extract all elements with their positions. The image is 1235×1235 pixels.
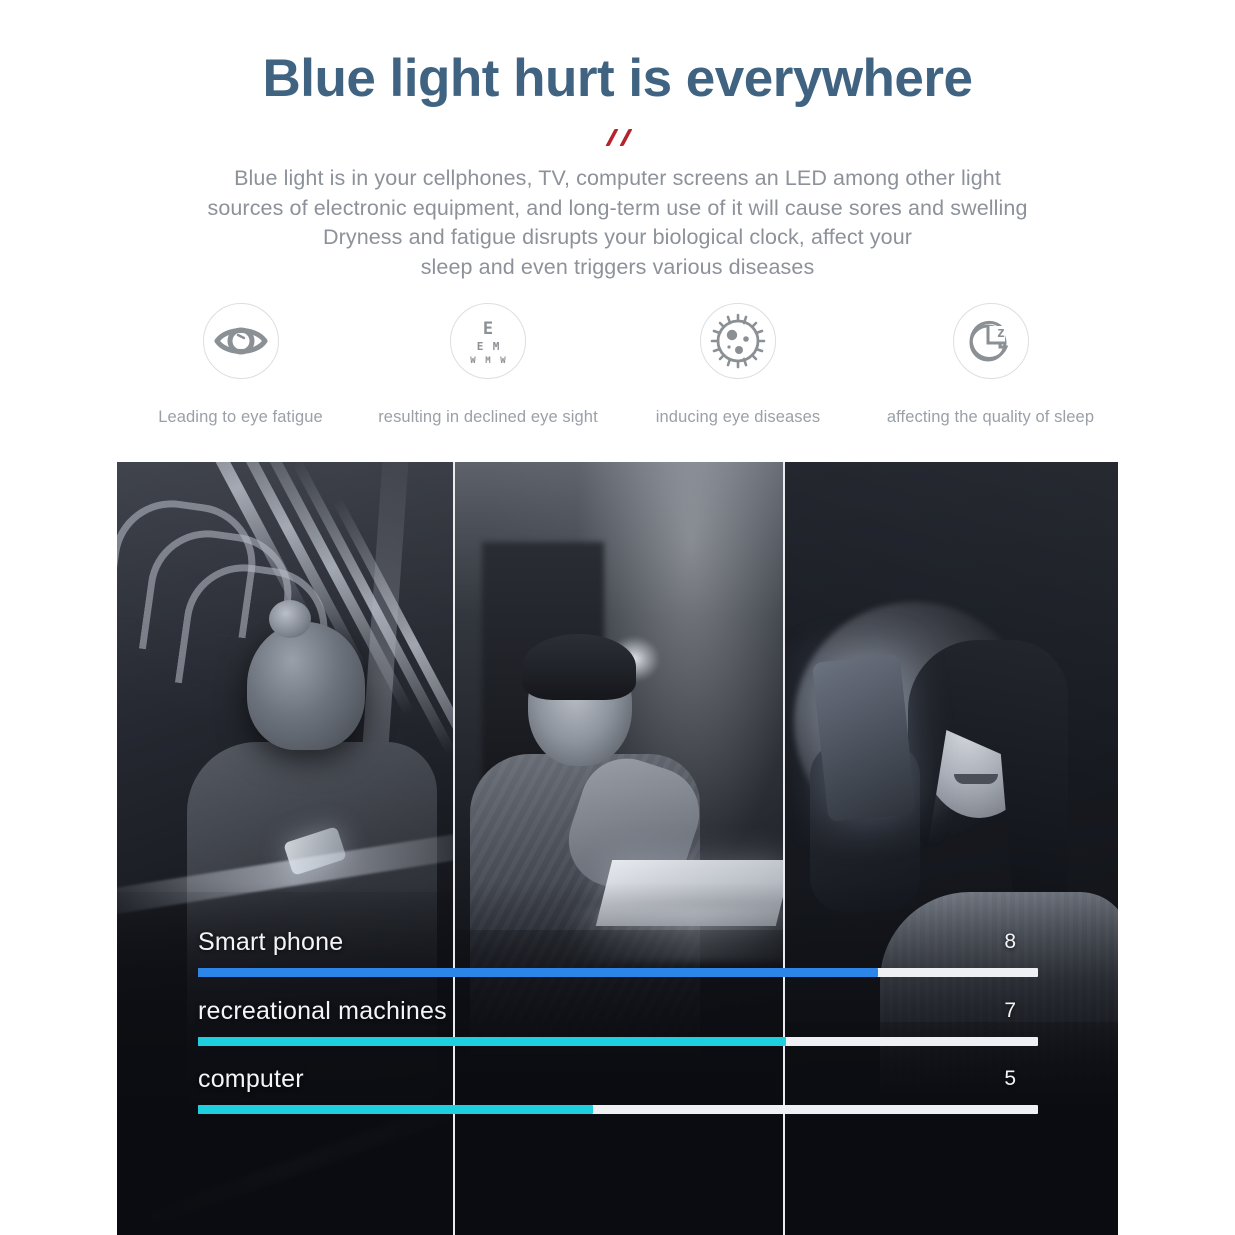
effect-caption: Leading to eye fatigue bbox=[118, 408, 363, 427]
effect-item-sleep-quality: z affecting the quality of sleep bbox=[863, 303, 1118, 379]
effect-item-declined-eyesight: E E M W M W resulting in declined eye si… bbox=[363, 303, 613, 379]
effect-caption: inducing eye diseases bbox=[613, 408, 863, 427]
bar-track bbox=[198, 1037, 1038, 1046]
virus-icon bbox=[700, 303, 776, 379]
svg-text:W: W bbox=[500, 356, 506, 366]
svg-text:W: W bbox=[470, 356, 476, 366]
svg-text:M: M bbox=[493, 340, 500, 353]
eye-chart-icon: E E M W M W bbox=[450, 303, 526, 379]
effects-icon-row: Leading to eye fatigue E E M W M W resul… bbox=[118, 303, 1118, 438]
effect-item-eye-fatigue: Leading to eye fatigue bbox=[118, 303, 363, 379]
red-quote-mark-icon bbox=[604, 129, 648, 149]
intro-line-1: Blue light is in your cellphones, TV, co… bbox=[0, 164, 1235, 194]
bar-label: recreational machines bbox=[198, 997, 447, 1026]
bar-value: 5 bbox=[1004, 1067, 1016, 1091]
bar-track bbox=[198, 968, 1038, 977]
svg-text:E: E bbox=[477, 340, 484, 353]
blue-light-infographic: Blue light hurt is everywhere Blue light… bbox=[0, 0, 1235, 1235]
effect-caption: affecting the quality of sleep bbox=[863, 408, 1118, 427]
bar-value: 7 bbox=[1004, 999, 1016, 1023]
effect-caption: resulting in declined eye sight bbox=[363, 408, 613, 427]
intro-paragraph: Blue light is in your cellphones, TV, co… bbox=[0, 164, 1235, 282]
page-title: Blue light hurt is everywhere bbox=[0, 52, 1235, 105]
blue-light-exposure-bar-chart: Smart phone 8 recreational machines 7 co… bbox=[117, 462, 1118, 1235]
intro-line-2: sources of electronic equipment, and lon… bbox=[0, 194, 1235, 224]
bar-track bbox=[198, 1105, 1038, 1114]
intro-line-4: sleep and even triggers various diseases bbox=[0, 253, 1235, 283]
moon-sleep-icon: z bbox=[953, 303, 1029, 379]
effect-item-eye-diseases: inducing eye diseases bbox=[613, 303, 863, 379]
bar-fill bbox=[198, 1037, 786, 1046]
bar-value: 8 bbox=[1004, 930, 1016, 954]
bar-label: Smart phone bbox=[198, 928, 343, 957]
svg-text:z: z bbox=[997, 324, 1005, 341]
bar-fill bbox=[198, 1105, 593, 1114]
photo-strip: Smart phone 8 recreational machines 7 co… bbox=[117, 462, 1118, 1235]
intro-line-3: Dryness and fatigue disrupts your biolog… bbox=[0, 223, 1235, 253]
eye-icon bbox=[203, 303, 279, 379]
svg-text:E: E bbox=[483, 319, 493, 339]
svg-text:M: M bbox=[485, 356, 491, 366]
bar-label: computer bbox=[198, 1065, 304, 1094]
bar-fill bbox=[198, 968, 878, 977]
